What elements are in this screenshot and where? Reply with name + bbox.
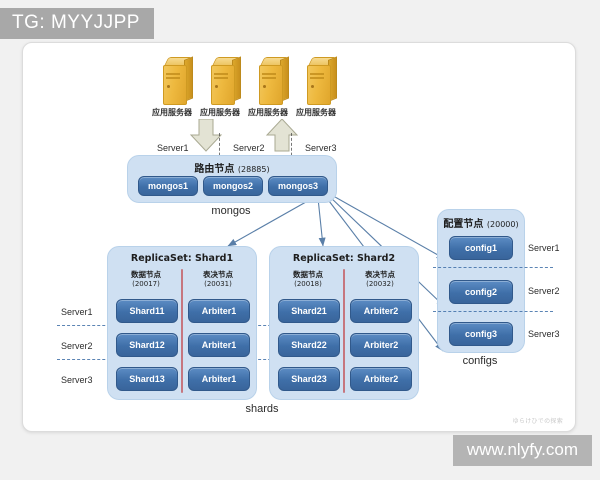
shard1-data-col-name: 数据节点 [131, 270, 161, 279]
shard1-column-divider [181, 269, 183, 393]
shard1-arbiter-column-header: 表决节点 (20031) [186, 270, 250, 289]
replicaset-shard1: ReplicaSet: Shard1 数据节点 (20017) 表决节点 (20… [107, 246, 257, 400]
configs-port: (20000) [487, 220, 519, 229]
shards-caption: shards [107, 403, 417, 415]
mongos-group: 路由节点 (28885) mongos1 mongos2 mongos3 [127, 155, 337, 203]
shard2-arbiter-col-name: 表决节点 [365, 270, 395, 279]
shard2-data-col-port: (20018) [294, 280, 322, 288]
shard1-title: ReplicaSet: Shard1 [108, 253, 256, 264]
mongos-caption: mongos [127, 205, 335, 217]
replicaset-shard2: ReplicaSet: Shard2 数据节点 (20018) 表决节点 (20… [269, 246, 419, 400]
shard2-title: ReplicaSet: Shard2 [270, 253, 418, 264]
application-server-tier: 应用服务器 应用服务器 应用服务器 应用服务器 [151, 57, 341, 119]
shard2-data-node-3[interactable]: Shard23 [278, 367, 340, 391]
app-server-icon [255, 57, 285, 103]
shard2-data-node-1[interactable]: Shard21 [278, 299, 340, 323]
mongos-port: (28885) [238, 165, 270, 174]
config-node-2[interactable]: config2 [449, 280, 513, 304]
config-server-label-3: Server3 [528, 329, 560, 339]
configs-caption: configs [437, 355, 523, 367]
mongos-node-2[interactable]: mongos2 [203, 176, 263, 196]
server-tick-label: Server2 [233, 143, 265, 153]
shard2-data-node-2[interactable]: Shard22 [278, 333, 340, 357]
shard2-data-col-name: 数据节点 [293, 270, 323, 279]
shard2-data-column-header: 数据节点 (20018) [276, 270, 340, 289]
server-tick-label: Server3 [305, 143, 337, 153]
shard2-arbiter-node-3[interactable]: Arbiter2 [350, 367, 412, 391]
mongos-title-text: 路由节点 [194, 164, 234, 175]
shard2-arbiter-column-header: 表决节点 (20032) [348, 270, 412, 289]
config-server-label-1: Server1 [528, 243, 560, 253]
shard-server-label-3: Server3 [61, 375, 93, 385]
shard1-arbiter-col-port: (20031) [204, 280, 232, 288]
shard2-arbiter-col-port: (20032) [366, 280, 394, 288]
configs-title-text: 配置节点 [443, 219, 483, 230]
shard1-arbiter-node-2[interactable]: Arbiter1 [188, 333, 250, 357]
diagram-canvas: 应用服务器 应用服务器 应用服务器 应用服务器 Server1 Server2 … [22, 42, 576, 432]
mongos-node-1[interactable]: mongos1 [138, 176, 198, 196]
shard-server-label-1: Server1 [61, 307, 93, 317]
shard1-data-node-2[interactable]: Shard12 [116, 333, 178, 357]
configs-group-title: 配置节点 (20000) [438, 215, 524, 230]
shard1-arbiter-col-name: 表决节点 [203, 270, 233, 279]
config-server-label-2: Server2 [528, 286, 560, 296]
mongos-group-title: 路由节点 (28885) [128, 160, 336, 175]
app-server-label: 应用服务器 [287, 107, 345, 118]
mongos-node-3[interactable]: mongos3 [268, 176, 328, 196]
shard2-arbiter-node-2[interactable]: Arbiter2 [350, 333, 412, 357]
config-node-3[interactable]: config3 [449, 322, 513, 346]
shard1-data-node-3[interactable]: Shard13 [116, 367, 178, 391]
app-server-icon [159, 57, 189, 103]
app-server-icon [303, 57, 333, 103]
configs-group: 配置节点 (20000) config1 config2 config3 [437, 209, 525, 353]
shard1-arbiter-node-1[interactable]: Arbiter1 [188, 299, 250, 323]
server-tick-label: Server1 [157, 143, 189, 153]
url-badge: www.nlyfy.com [453, 435, 592, 466]
config-row-divider [433, 267, 553, 268]
config-node-1[interactable]: config1 [449, 236, 513, 260]
shard1-data-column-header: 数据节点 (20017) [114, 270, 178, 289]
shard1-arbiter-node-3[interactable]: Arbiter1 [188, 367, 250, 391]
diagram-watermark: ゆらけひでの探索 [513, 416, 563, 425]
config-row-divider [433, 311, 553, 312]
shard2-column-divider [343, 269, 345, 393]
shard-server-label-2: Server2 [61, 341, 93, 351]
shard1-data-node-1[interactable]: Shard11 [116, 299, 178, 323]
shard1-data-col-port: (20017) [132, 280, 160, 288]
tg-badge: TG: MYYJJPP [0, 8, 154, 39]
shard2-arbiter-node-1[interactable]: Arbiter2 [350, 299, 412, 323]
app-server-icon [207, 57, 237, 103]
